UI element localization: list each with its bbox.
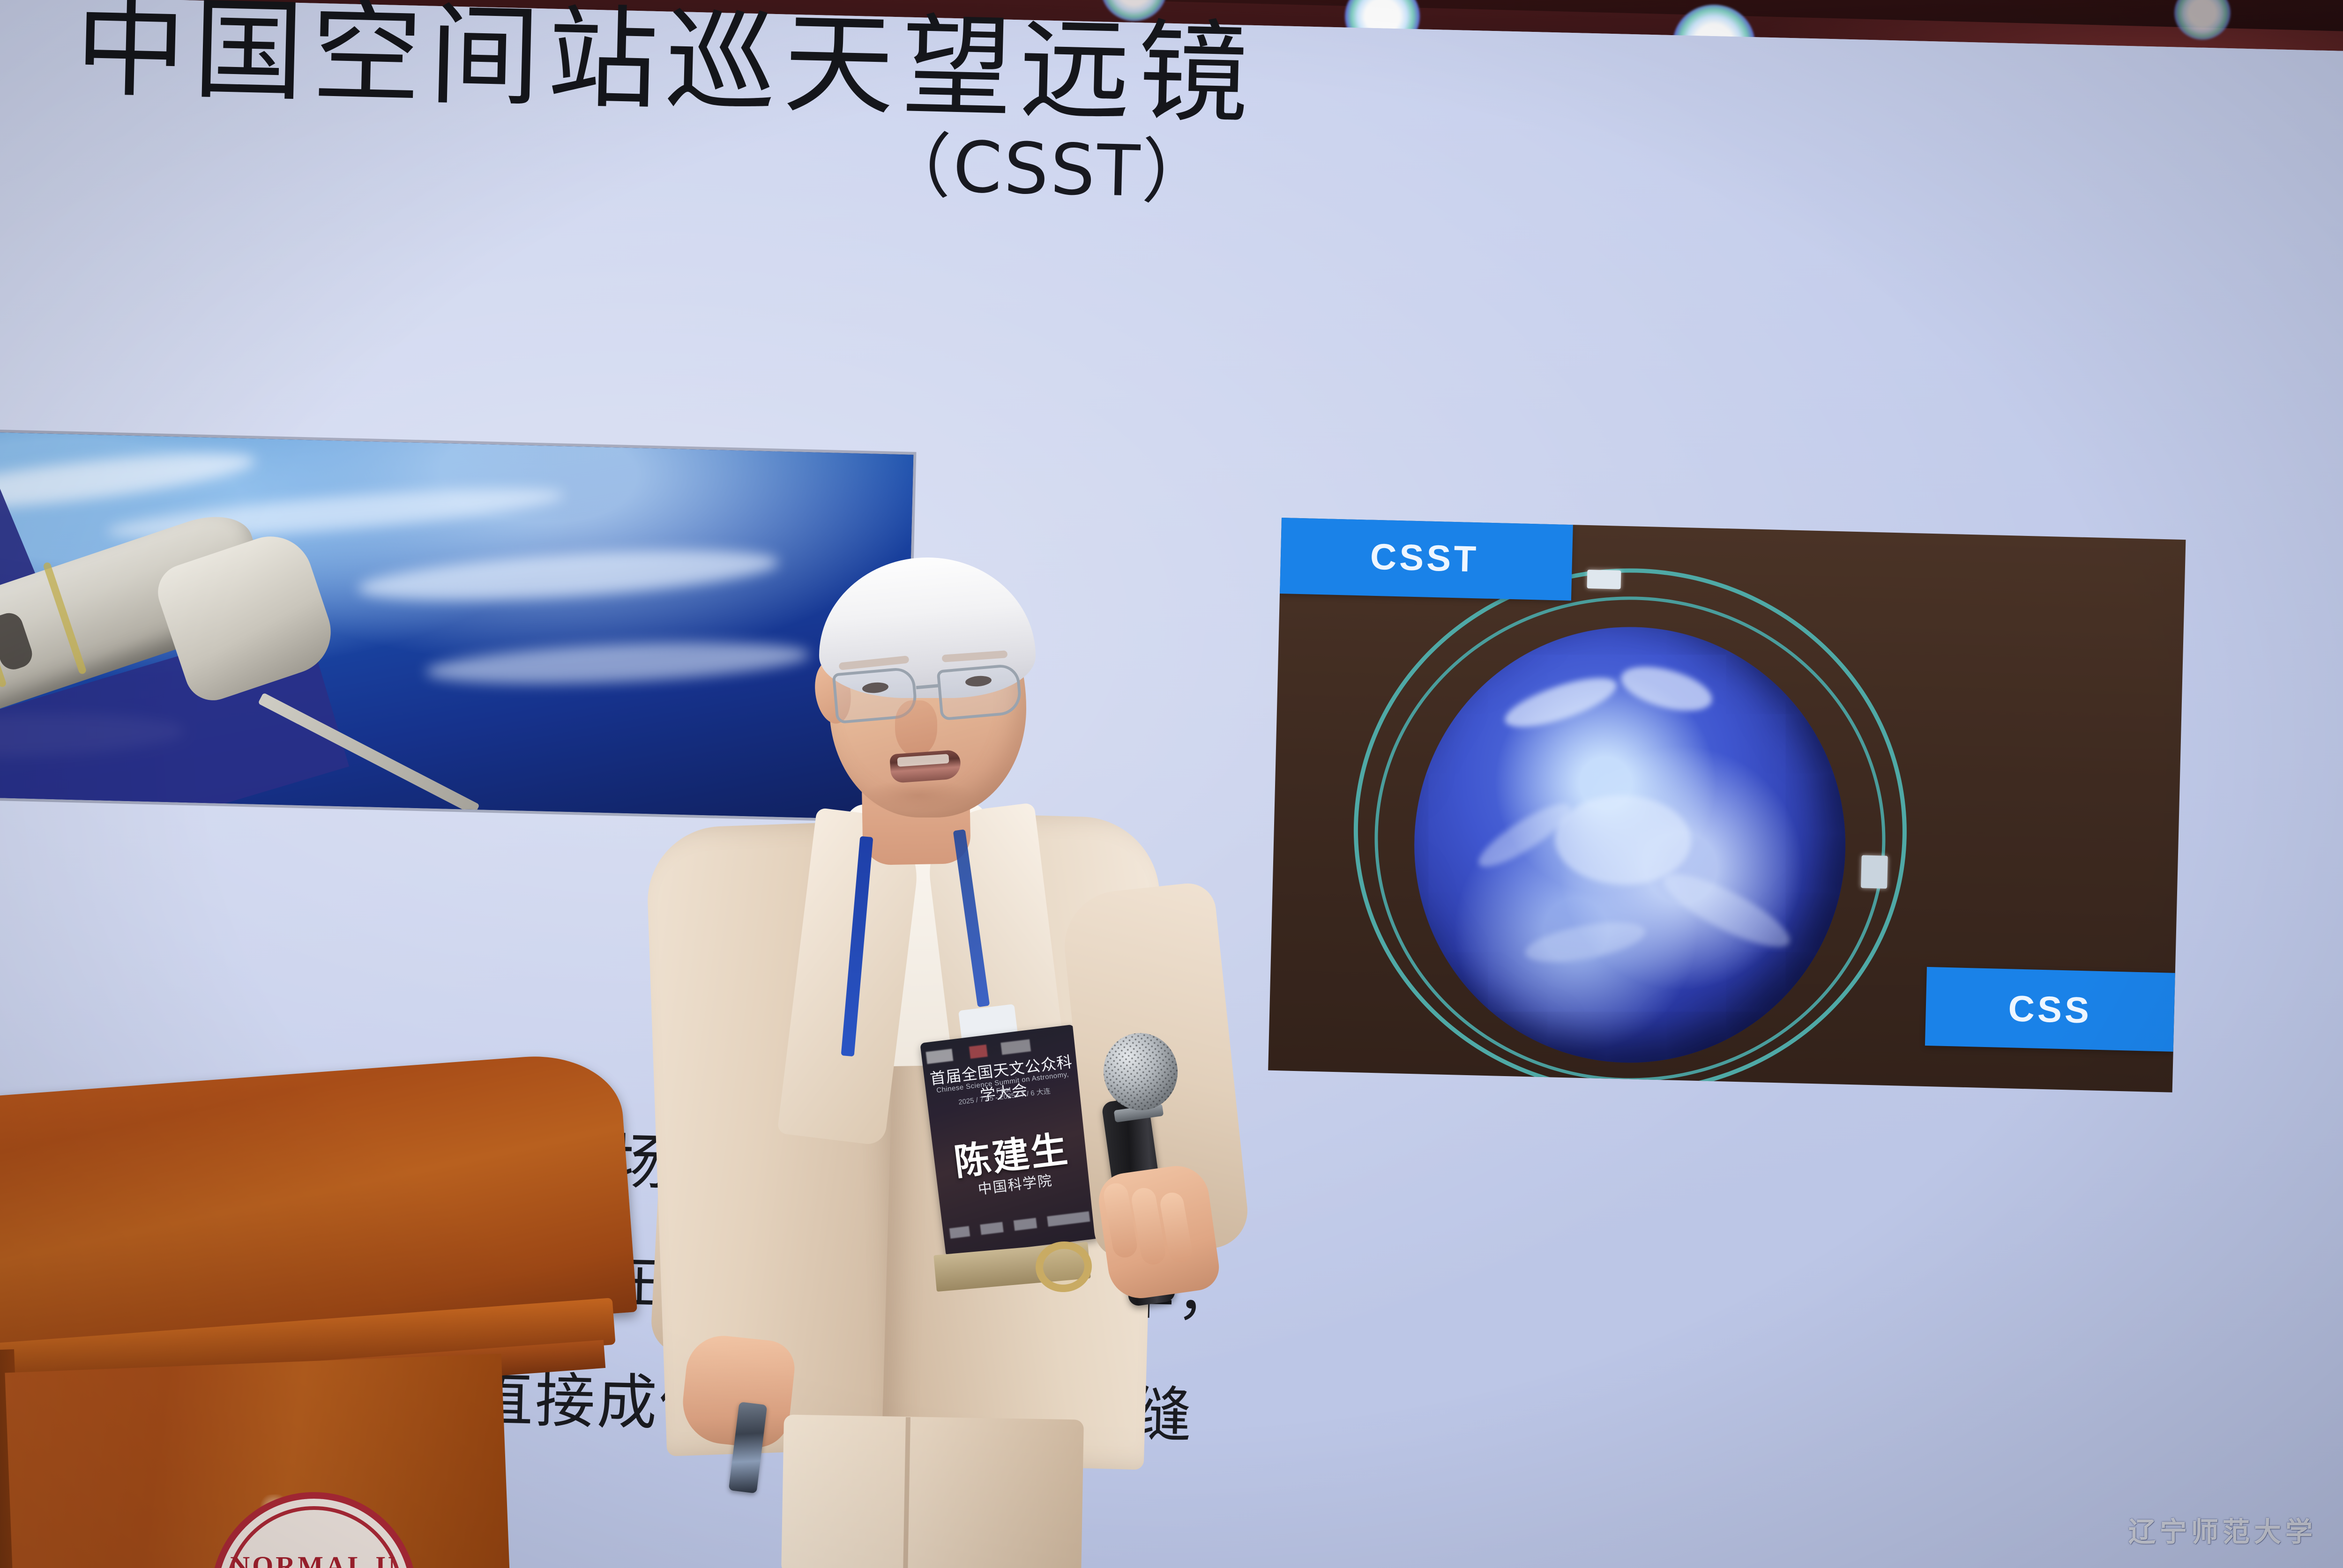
eyeglass-bridge	[916, 684, 940, 690]
podium-university-seal: NORMAL U	[211, 1492, 417, 1568]
badge-footer-logos	[949, 1211, 1090, 1239]
photo-scene: 中国空间站巡天望远镜 （CSST） CSST	[0, 0, 2343, 1568]
trousers	[781, 1414, 1084, 1568]
conference-badge: 首届全国天文公众科学大会 Chinese Science Summit on A…	[920, 1025, 1100, 1257]
nose	[895, 700, 937, 757]
eyeglass-lens-right	[937, 663, 1023, 721]
venue-watermark: 辽宁师范大学	[2128, 1510, 2317, 1549]
speaker: 首届全国天文公众科学大会 Chinese Science Summit on A…	[642, 560, 1265, 1568]
seal-label: NORMAL U	[211, 1550, 417, 1568]
chin-shadow	[862, 779, 975, 812]
podium	[0, 1021, 694, 1568]
